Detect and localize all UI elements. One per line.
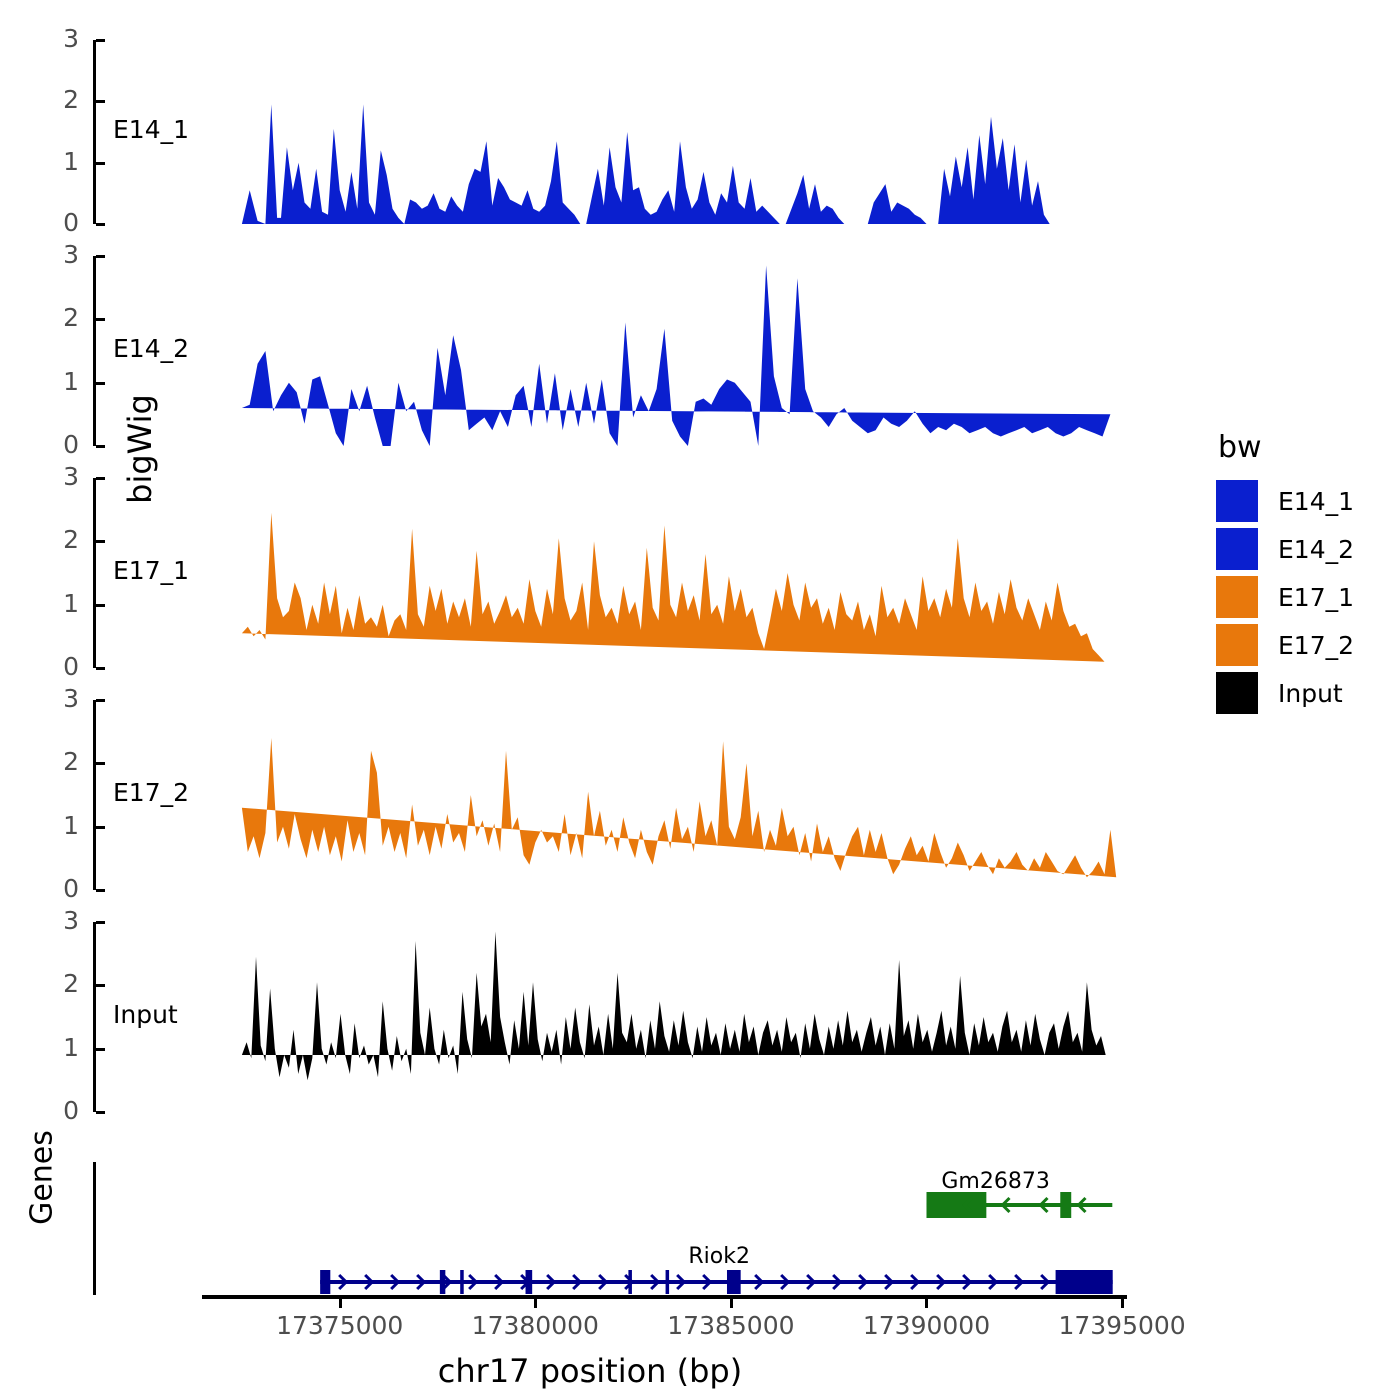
legend-items: E14_1E14_2E17_1E17_2Input [1216, 479, 1396, 715]
track-area-e17_1 [93, 478, 1136, 668]
legend-title: bw [1218, 430, 1396, 465]
y-tick-label: 3 [25, 242, 79, 267]
legend: bw E14_1E14_2E17_1E17_2Input [1216, 430, 1396, 719]
legend-item-e17_1[interactable]: E17_1 [1216, 575, 1396, 619]
x-tick-label: 17395000 [1032, 1311, 1212, 1340]
y-tick-label: 3 [25, 26, 79, 51]
y-tick-label: 0 [25, 876, 79, 901]
track-area-e14_2 [93, 256, 1136, 446]
track-panel-e17_2: 3210E17_2 [93, 700, 1136, 890]
y-tick-label: 2 [25, 87, 79, 112]
y-tick-label: 1 [25, 149, 79, 174]
x-tick [1121, 1299, 1124, 1308]
y-tick-label: 0 [25, 654, 79, 679]
legend-color-swatch [1216, 528, 1258, 570]
track-area-input [93, 922, 1136, 1112]
legend-label: E14_2 [1278, 535, 1354, 564]
legend-color-swatch [1216, 480, 1258, 522]
legend-color-swatch [1216, 672, 1258, 714]
legend-label: Input [1278, 679, 1343, 708]
legend-label: E17_2 [1278, 631, 1354, 660]
legend-item-e14_2[interactable]: E14_2 [1216, 527, 1396, 571]
x-tick [339, 1299, 342, 1308]
legend-color-swatch [1216, 576, 1258, 618]
y-tick-label: 2 [25, 527, 79, 552]
x-tick [925, 1299, 928, 1308]
x-tick-label: 17385000 [641, 1311, 821, 1340]
legend-item-e17_2[interactable]: E17_2 [1216, 623, 1396, 667]
genes-panel: Gm26873Riok2 [93, 1162, 1136, 1295]
y-tick-label: 1 [25, 369, 79, 394]
y-tick-label: 2 [25, 305, 79, 330]
y-tick-label: 2 [25, 749, 79, 774]
track-panel-e14_1: 3210E14_1 [93, 40, 1136, 224]
track-panel-input: 3210Input [93, 922, 1136, 1112]
track-panel-e17_1: 3210E17_1 [93, 478, 1136, 668]
track-panel-e14_2: 3210E14_2 [93, 256, 1136, 446]
y-tick-label: 1 [25, 1035, 79, 1060]
x-tick [534, 1299, 537, 1308]
y-tick-label: 0 [25, 210, 79, 235]
track-area-e17_2 [93, 700, 1136, 890]
legend-color-swatch [1216, 624, 1258, 666]
x-tick-label: 17375000 [250, 1311, 430, 1340]
legend-label: E17_1 [1278, 583, 1354, 612]
legend-item-input[interactable]: Input [1216, 671, 1396, 715]
x-tick-label: 17390000 [836, 1311, 1016, 1340]
y-axis-label-genes: Genes [25, 1108, 60, 1248]
x-axis-title: chr17 position (bp) [0, 1352, 1180, 1390]
y-tick-label: 0 [25, 432, 79, 457]
gene-label-riok2: Riok2 [629, 1244, 809, 1269]
legend-item-e14_1[interactable]: E14_1 [1216, 479, 1396, 523]
y-tick-label: 0 [25, 1098, 79, 1123]
y-tick-label: 1 [25, 591, 79, 616]
y-tick-label: 3 [25, 908, 79, 933]
y-tick-label: 2 [25, 971, 79, 996]
x-tick-label: 17380000 [445, 1311, 625, 1340]
x-tick [730, 1299, 733, 1308]
gene-label-gm26873: Gm26873 [906, 1169, 1086, 1194]
y-tick-label: 3 [25, 686, 79, 711]
legend-label: E14_1 [1278, 487, 1354, 516]
y-tick-label: 1 [25, 813, 79, 838]
y-tick-label: 3 [25, 464, 79, 489]
bigwig-genome-browser-figure: bigWig Genes 3210E14_13210E14_23210E17_1… [0, 0, 1400, 1400]
track-area-e14_1 [93, 40, 1136, 224]
